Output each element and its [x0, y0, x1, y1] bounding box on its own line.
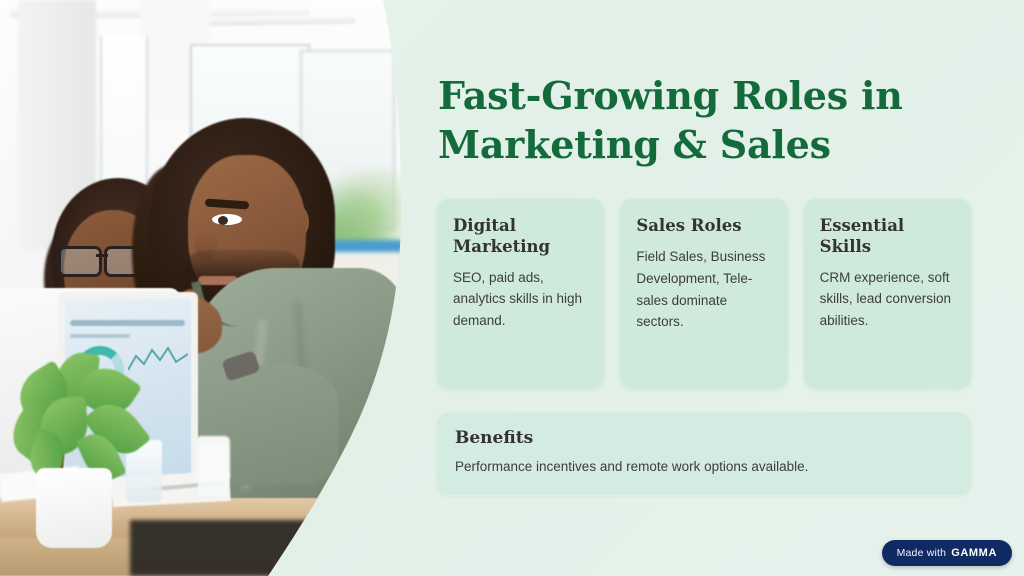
potted-plant-leaves	[6, 352, 146, 487]
card-title: Essential Skills	[820, 216, 955, 258]
glasses-bridge	[96, 254, 108, 257]
screen-chart-bar	[70, 334, 130, 338]
page-title: Fast-Growing Roles in Marketing & Sales	[438, 72, 908, 169]
card-body: Field Sales, Business Development, Tele-…	[636, 246, 771, 333]
card-essential-skills: Essential Skills CRM experience, soft sk…	[803, 198, 972, 390]
benefits-title: Benefits	[455, 428, 953, 448]
cards-row: Digital Marketing SEO, paid ads, analyti…	[436, 198, 972, 390]
card-sales-roles: Sales Roles Field Sales, Business Develo…	[619, 198, 788, 390]
benefits-body: Performance incentives and remote work o…	[455, 457, 953, 477]
slide-root: Fast-Growing Roles in Marketing & Sales …	[0, 0, 1024, 576]
card-title: Sales Roles	[636, 216, 771, 237]
photo-panel	[0, 0, 404, 576]
card-body: SEO, paid ads, analytics skills in high …	[453, 267, 588, 333]
card-benefits: Benefits Performance incentives and remo…	[436, 412, 972, 496]
card-digital-marketing: Digital Marketing SEO, paid ads, analyti…	[436, 198, 605, 390]
desk-shadow	[130, 520, 404, 576]
man-pupil	[218, 216, 228, 225]
water-glass	[198, 444, 228, 496]
made-with-gamma-badge[interactable]: Made with GAMMA	[882, 540, 1012, 566]
plant-pot	[36, 468, 112, 548]
badge-brand-label: GAMMA	[951, 547, 997, 559]
office-team-photo	[0, 0, 404, 576]
card-title: Digital Marketing	[453, 216, 588, 258]
content-area: Fast-Growing Roles in Marketing & Sales …	[404, 0, 1024, 576]
card-body: CRM experience, soft skills, lead conver…	[820, 267, 955, 333]
screen-chart-bar	[70, 320, 185, 326]
badge-made-with-label: Made with	[897, 547, 947, 559]
